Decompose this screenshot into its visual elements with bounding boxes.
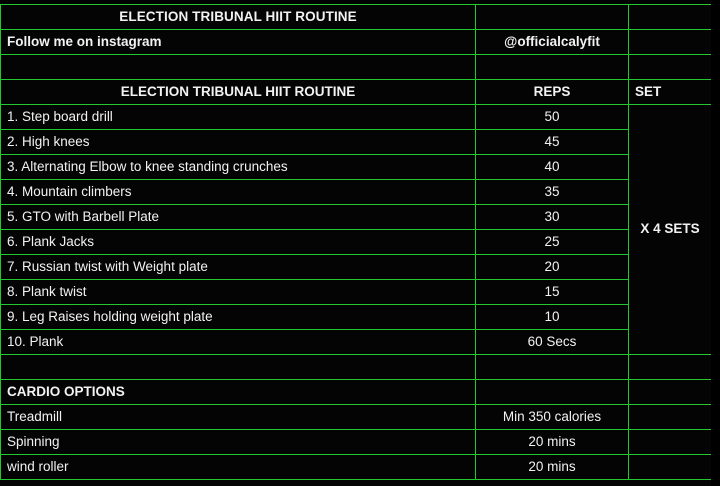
spacer-cardio-reps xyxy=(476,355,629,380)
spacer-top-set xyxy=(629,55,712,80)
exercise-reps: 15 xyxy=(476,280,629,305)
cardio-target: 20 mins xyxy=(476,430,629,455)
exercise-name: 1. Step board drill xyxy=(1,105,476,130)
banner-title: ELECTION TRIBUNAL HIIT ROUTINE xyxy=(1,5,476,30)
exercise-reps: 50 xyxy=(476,105,629,130)
banner-title-row: ELECTION TRIBUNAL HIIT ROUTINE xyxy=(1,5,712,30)
exercise-name: 6. Plank Jacks xyxy=(1,230,476,255)
header-reps: REPS xyxy=(476,80,629,105)
exercise-name: 5. GTO with Barbell Plate xyxy=(1,205,476,230)
cardio-heading: CARDIO OPTIONS xyxy=(1,380,476,405)
workout-table: ELECTION TRIBUNAL HIIT ROUTINE Follow me… xyxy=(0,4,712,480)
exercise-name: 9. Leg Raises holding weight plate xyxy=(1,305,476,330)
cardio-heading-set-blank xyxy=(629,380,712,405)
cardio-set-blank xyxy=(629,455,712,480)
exercise-reps: 40 xyxy=(476,155,629,180)
table-header-row: ELECTION TRIBUNAL HIIT ROUTINE REPS SET xyxy=(1,80,712,105)
exercise-name: 4. Mountain climbers xyxy=(1,180,476,205)
spacer-top-reps xyxy=(476,55,629,80)
table-row: 10. Plank 60 Secs xyxy=(1,330,712,355)
cardio-set-blank xyxy=(629,405,712,430)
table-row: 9. Leg Raises holding weight plate 10 xyxy=(1,305,712,330)
exercise-name: 2. High knees xyxy=(1,130,476,155)
cardio-activity: Spinning xyxy=(1,430,476,455)
cardio-set-blank xyxy=(629,430,712,455)
table-row: 7. Russian twist with Weight plate 20 xyxy=(1,255,712,280)
cardio-heading-row: CARDIO OPTIONS xyxy=(1,380,712,405)
workout-sheet: ELECTION TRIBUNAL HIIT ROUTINE Follow me… xyxy=(0,0,720,486)
table-row: 6. Plank Jacks 25 xyxy=(1,230,712,255)
instagram-row: Follow me on instagram @officialcalyfit xyxy=(1,30,712,55)
sets-note: X 4 SETS xyxy=(629,105,712,355)
exercise-reps: 35 xyxy=(476,180,629,205)
exercise-name: 10. Plank xyxy=(1,330,476,355)
table-row: Treadmill Min 350 calories xyxy=(1,405,712,430)
exercise-name: 7. Russian twist with Weight plate xyxy=(1,255,476,280)
spacer-row-top xyxy=(1,55,712,80)
table-row: Spinning 20 mins xyxy=(1,430,712,455)
instagram-set-blank xyxy=(629,30,712,55)
table-row: 8. Plank twist 15 xyxy=(1,280,712,305)
exercise-name: 3. Alternating Elbow to knee standing cr… xyxy=(1,155,476,180)
table-row: 2. High knees 45 xyxy=(1,130,712,155)
cardio-target: Min 350 calories xyxy=(476,405,629,430)
exercise-reps: 10 xyxy=(476,305,629,330)
spacer-top-name xyxy=(1,55,476,80)
instagram-handle[interactable]: @officialcalyfit xyxy=(476,30,629,55)
exercise-reps: 60 Secs xyxy=(476,330,629,355)
spacer-row-cardio xyxy=(1,355,712,380)
table-row: wind roller 20 mins xyxy=(1,455,712,480)
exercise-reps: 45 xyxy=(476,130,629,155)
table-row: 3. Alternating Elbow to knee standing cr… xyxy=(1,155,712,180)
exercise-name: 8. Plank twist xyxy=(1,280,476,305)
banner-title-reps-blank xyxy=(476,5,629,30)
exercise-reps: 20 xyxy=(476,255,629,280)
header-exercise: ELECTION TRIBUNAL HIIT ROUTINE xyxy=(1,80,476,105)
table-row: 5. GTO with Barbell Plate 30 xyxy=(1,205,712,230)
header-set: SET xyxy=(629,80,712,105)
banner-title-set-blank xyxy=(629,5,712,30)
cardio-target: 20 mins xyxy=(476,455,629,480)
cardio-activity: wind roller xyxy=(1,455,476,480)
table-row: 4. Mountain climbers 35 xyxy=(1,180,712,205)
exercise-reps: 25 xyxy=(476,230,629,255)
right-gutter xyxy=(711,0,720,486)
cardio-heading-reps-blank xyxy=(476,380,629,405)
follow-label: Follow me on instagram xyxy=(1,30,476,55)
spacer-cardio-name xyxy=(1,355,476,380)
exercise-reps: 30 xyxy=(476,205,629,230)
cardio-activity: Treadmill xyxy=(1,405,476,430)
spacer-cardio-set xyxy=(629,355,712,380)
table-row: 1. Step board drill 50 X 4 SETS xyxy=(1,105,712,130)
